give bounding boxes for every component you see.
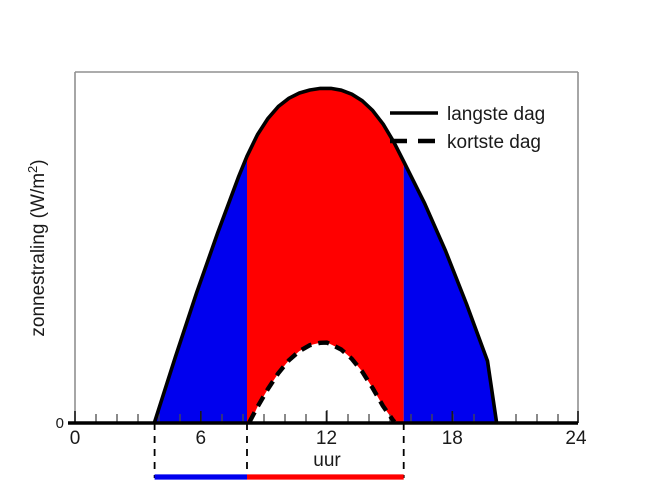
solar-radiation-chart: 0 6 12 18 24 0 uur zonnestraling (W/m2) … bbox=[0, 0, 645, 500]
marker-dashed-lines bbox=[155, 423, 404, 478]
y-tick-label-0: 0 bbox=[56, 415, 64, 432]
chart-figure: 0 6 12 18 24 0 uur zonnestraling (W/m2) … bbox=[0, 0, 645, 500]
legend-label-langste-dag: langste dag bbox=[447, 104, 545, 125]
svg-text:zonnestraling (W/m2): zonnestraling (W/m2) bbox=[25, 159, 49, 336]
x-tick-label-24: 24 bbox=[565, 428, 587, 449]
x-tick-label-0: 0 bbox=[70, 428, 81, 449]
x-axis-label: uur bbox=[313, 450, 341, 471]
x-tick-label-18: 18 bbox=[442, 428, 463, 449]
x-tick-label-12: 12 bbox=[316, 428, 337, 449]
y-axis-label-exponent: 2 bbox=[25, 166, 40, 173]
legend-label-kortste-dag: kortste dag bbox=[447, 132, 541, 153]
y-axis-label-main: zonnestraling (W/m bbox=[28, 173, 49, 337]
y-axis-label-tail: ) bbox=[28, 159, 49, 165]
y-axis-label: zonnestraling (W/m2) bbox=[25, 159, 49, 336]
x-tick-label-6: 6 bbox=[196, 428, 207, 449]
